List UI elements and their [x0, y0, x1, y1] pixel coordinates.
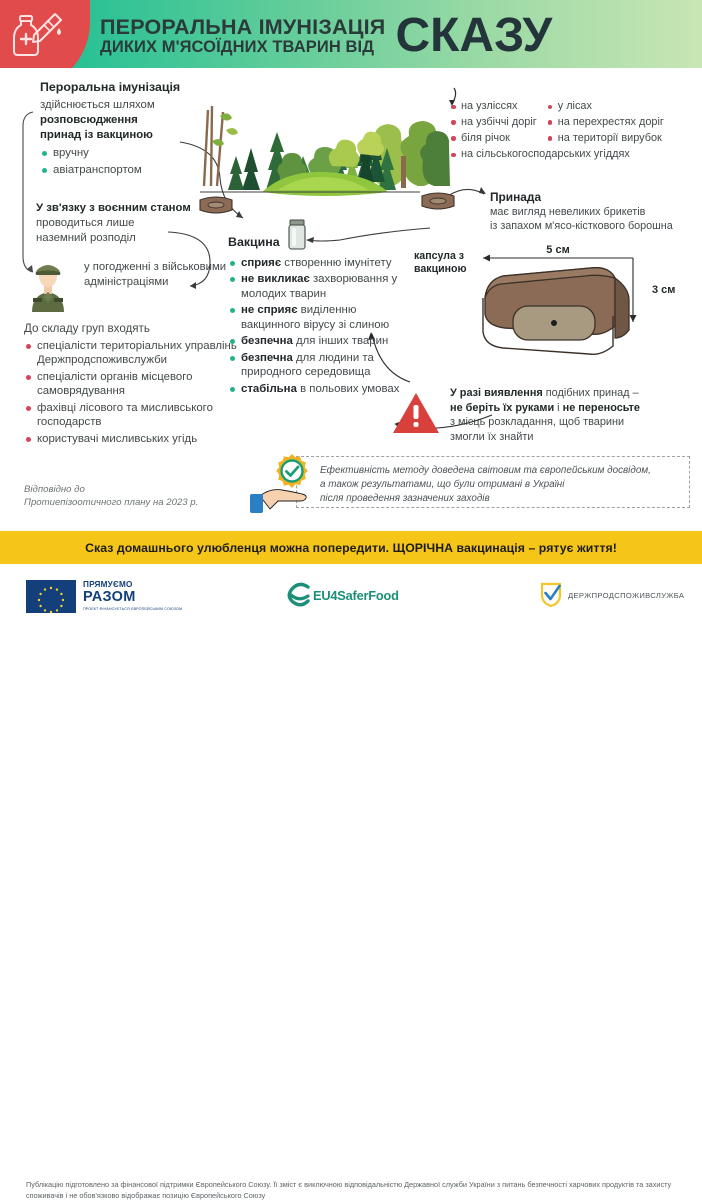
item-bold: безпечна	[241, 335, 293, 347]
footer: ПРЯМУЄМО РАЗОМ ПРОЕКТ ФІНАНСУЄТЬСЯ ЄВРОП…	[0, 564, 702, 644]
list-item: на сільськогосподарських угіддях	[450, 148, 700, 161]
list-item: не сприяє виділенню вакцинного вірусу зі…	[228, 303, 408, 332]
header-title-big: СКАЗУ	[395, 13, 552, 59]
item-bold: не викликає	[241, 273, 310, 285]
list-item: на території вирубок	[547, 132, 664, 145]
distribution-locations-block: на узліссях на узбіччі доріг біля річок …	[450, 100, 700, 164]
header-title-group: ПЕРОРАЛЬНА ІМУНІЗАЦІЯ ДИКИХ М'ЯСОЇДНИХ Т…	[100, 8, 696, 64]
list-item: на узліссях	[450, 100, 537, 113]
section-title-vaccine: Вакцина	[228, 235, 280, 249]
plan-footnote: Відповідно до Протиепізоотичного плану н…	[24, 483, 254, 509]
warning-b3: не переносьте	[563, 402, 640, 414]
groups-heading: До складу груп входять	[24, 322, 239, 335]
header-banner: ПЕРОРАЛЬНА ІМУНІЗАЦІЯ ДИКИХ М'ЯСОЇДНИХ Т…	[0, 0, 702, 68]
groups-list: спеціалісти територіальних управлінь Дер…	[24, 339, 239, 446]
list-item: у лісах	[547, 100, 664, 113]
bait-3d-diagram: 5 см 3 см	[455, 240, 702, 385]
warning-block: У разі виявлення подібних принад – не бе…	[392, 386, 692, 444]
locations-column-right: у лісах на перехрестях доріг на територі…	[547, 100, 664, 147]
military-coordination-text: у погодженні з військовими адміністрація…	[84, 252, 235, 312]
section-title-bait: Принада	[490, 190, 702, 204]
yellow-callout-banner: Сказ домашнього улюбленця можна попереди…	[0, 531, 702, 564]
list-item: користувачі мисливських угідь	[24, 432, 239, 446]
warning-b1: У разі виявлення	[450, 387, 543, 399]
list-item: біля річок	[450, 132, 537, 145]
eu-flag-icon	[26, 580, 76, 613]
martial-law-line2: наземний розподіл	[36, 231, 236, 246]
footer-disclaimer: Публікацію підготовлено за фінансової пі…	[26, 1180, 682, 1201]
item-bold: сприяє	[241, 257, 281, 269]
list-item: безпечна для інших тварин	[228, 334, 408, 348]
warning-triangle-icon	[392, 391, 440, 435]
dim-width-label: 5 см	[546, 244, 569, 256]
list-item: спеціалісти органів місцевого самоврядув…	[24, 370, 239, 399]
eu4saferfood-icon	[287, 582, 311, 608]
header-title-line2: ДИКИХ М'ЯСОЇДНИХ ТВАРИН ВІД	[100, 39, 385, 56]
item-bold: стабільна	[241, 383, 297, 395]
locations-column-left: на узліссях на узбіччі доріг біля річок	[450, 100, 537, 147]
list-item: сприяє створенню імунітету	[228, 256, 408, 270]
vaccine-jar-icon	[286, 218, 308, 252]
soldier-avatar-icon	[20, 252, 76, 312]
logo-eu4saferfood: EU4SaferFood	[287, 582, 399, 608]
list-item: стабільна в польових умовах	[228, 382, 408, 396]
item-bold: безпечна	[241, 352, 293, 364]
list-item: не викликає захворювання у молодих твари…	[228, 272, 408, 301]
warning-t2: і	[554, 402, 562, 414]
vaccine-vial-syringe-icon	[12, 12, 64, 58]
shield-check-icon	[540, 582, 562, 608]
dim-height-label: 3 см	[652, 284, 675, 296]
groups-composition-block: До складу груп входять спеціалісти терит…	[24, 322, 239, 448]
list-item: безпечна для людини та природного середо…	[228, 351, 408, 380]
efficiency-line2: а також результатами, що були отримані в…	[320, 478, 688, 492]
item-rest: створенню імунітету	[281, 257, 391, 269]
logo-pryamuyemo-razom: ПРЯМУЄМО РАЗОМ ПРОЕКТ ФІНАНСУЄТЬСЯ ЄВРОП…	[26, 580, 186, 614]
bait-brick-right-icon	[418, 188, 458, 214]
logo-derzhprodspozhyvsluzhba: ДЕРЖПРОДСПОЖИВСЛУЖБА	[540, 582, 684, 608]
list-item: фахівці лісового та мисливського господа…	[24, 401, 239, 430]
bait-brick-left-icon	[196, 192, 236, 218]
item-rest: для інших тварин	[293, 335, 388, 347]
eu-logo-line2: РАЗОМ	[83, 590, 182, 605]
efficiency-text: Ефективність методу доведена світовим та…	[320, 464, 688, 506]
footnote-line2: Протиепізоотичного плану на 2023 р.	[24, 496, 254, 509]
infographic-root: ПЕРОРАЛЬНА ІМУНІЗАЦІЯ ДИКИХ М'ЯСОЇДНИХ Т…	[0, 0, 702, 644]
list-item: на узбіччі доріг	[450, 116, 537, 129]
derzh-text: ДЕРЖПРОДСПОЖИВСЛУЖБА	[568, 591, 684, 600]
warning-text: У разі виявлення подібних принад – не бе…	[450, 386, 640, 444]
item-rest: в польових умовах	[297, 383, 400, 395]
list-item: на перехрестях доріг	[547, 116, 664, 129]
efficiency-line1: Ефективність методу доведена світовим та…	[320, 464, 688, 478]
locations-wide-list: на сільськогосподарських угіддях	[450, 148, 700, 161]
hand-holding-check-gear-icon	[250, 452, 322, 514]
bait-desc-line1: має вигляд невеликих брикетів	[490, 205, 702, 219]
banner-text: Сказ домашнього улюбленця можна попереди…	[85, 541, 617, 555]
warning-t4: змогли їх знайти	[450, 431, 533, 443]
warning-b2: не беріть їх руками	[450, 402, 554, 414]
warning-t3: з місць розкладання, щоб тварини	[450, 416, 624, 428]
eu-logo-line3: ПРОЕКТ ФІНАНСУЄТЬСЯ ЄВРОПЕЙСЬКИМ СОЮЗОМ	[83, 608, 182, 612]
header-title-line1: ПЕРОРАЛЬНА ІМУНІЗАЦІЯ	[100, 17, 385, 39]
forest-illustration	[182, 86, 450, 208]
efficiency-line3: після проведення зазначених заходів	[320, 492, 688, 506]
vaccine-properties-list: сприяє створенню імунітету не викликає з…	[228, 256, 408, 396]
efficiency-note-block: Ефективність методу доведена світовим та…	[246, 452, 694, 514]
warning-t1: подібних принад –	[543, 387, 639, 399]
bait-description-block: Принада має вигляд невеликих брикетів із…	[490, 190, 702, 233]
martial-law-line1: проводиться лише	[36, 216, 236, 231]
bait-desc-line2: із запахом м'ясо-кісткового борошна	[490, 219, 702, 233]
military-coordination-block: у погодженні з військовими адміністрація…	[20, 252, 235, 312]
eu-logo-line1: ПРЯМУЄМО	[83, 581, 182, 589]
item-bold: не сприяє	[241, 304, 298, 316]
footnote-line1: Відповідно до	[24, 483, 254, 496]
eu4saferfood-text: EU4SaferFood	[313, 588, 399, 603]
list-item: спеціалісти територіальних управлінь Дер…	[24, 339, 239, 368]
vaccine-block: Вакцина сприяє створенню імунітету не ви…	[228, 232, 408, 398]
